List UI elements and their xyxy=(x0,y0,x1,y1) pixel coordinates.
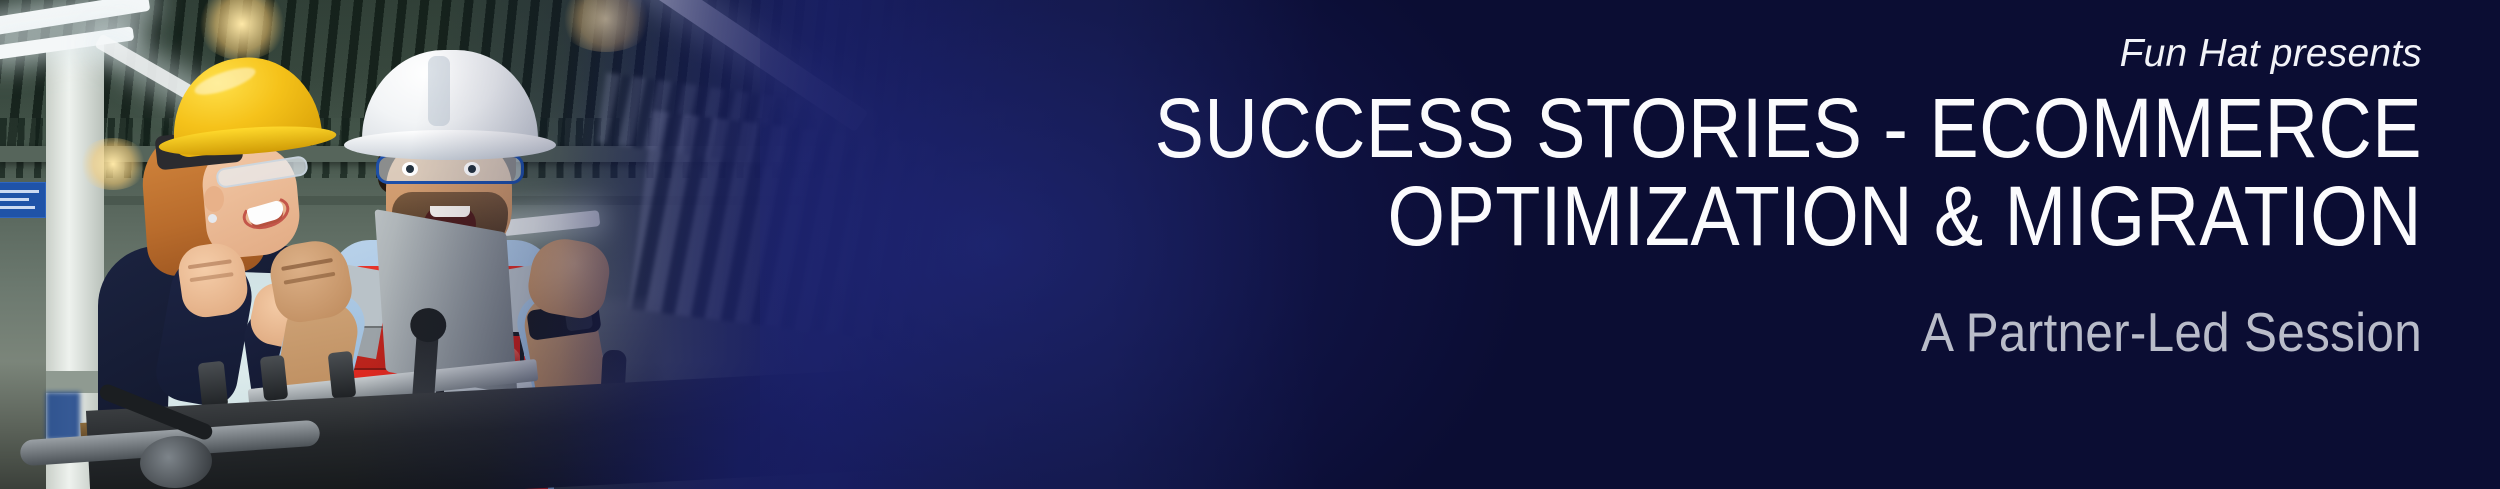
page-title-line-2: OPTIMIZATION & MIGRATION xyxy=(926,172,2422,260)
presenter-eyebrow: Fun Hat presents xyxy=(722,30,2422,78)
page-title-line-1: SUCCESS STORIES - ECOMMERCE xyxy=(926,84,2422,172)
title-text-block: Fun Hat presents SUCCESS STORIES - ECOMM… xyxy=(722,0,2422,489)
event-title-banner: Fun Hat presents SUCCESS STORIES - ECOMM… xyxy=(0,0,2500,489)
page-title: SUCCESS STORIES - ECOMMERCE OPTIMIZATION… xyxy=(926,84,2422,260)
page-subtitle: A Partner-Led Session xyxy=(892,300,2422,364)
